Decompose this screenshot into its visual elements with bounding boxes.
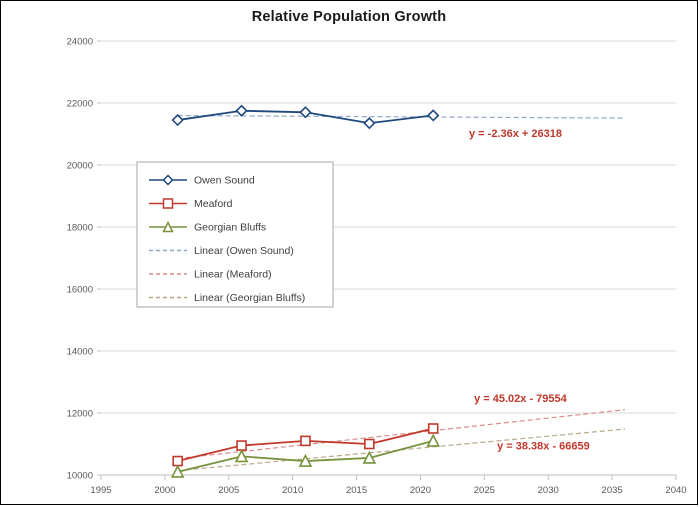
data-point-marker [428,110,438,120]
legend-entry-label: Georgian Bluffs [194,222,266,234]
legend-entry-label: Meaford [194,198,233,210]
data-point-marker [301,436,310,445]
x-axis-label: 2030 [538,485,559,496]
y-axis-label: 22000 [67,99,93,110]
y-axis-label: 16000 [67,285,93,296]
data-point-marker [173,115,183,125]
x-axis-label: 1995 [90,485,111,496]
data-point-marker [173,457,182,466]
data-point-marker [237,106,247,116]
trendline [178,116,625,119]
legend-entry-label: Owen Sound [194,175,255,187]
trendline-equation: y = -2.36x + 26318 [469,128,562,140]
chart-plot-area: 1000012000140001600018000200002200024000… [1,1,699,506]
chart-frame: Relative Population Growth 1000012000140… [0,0,698,505]
data-point-marker [365,440,374,449]
data-point-marker [428,435,439,446]
data-point-marker [429,424,438,433]
x-axis-label: 2040 [665,485,686,496]
legend-swatch-marker [164,199,173,208]
x-axis-label: 2000 [154,485,175,496]
x-axis-label: 2015 [346,485,367,496]
x-axis-label: 2020 [410,485,431,496]
x-axis-label: 2025 [474,485,495,496]
x-axis-label: 2010 [282,485,303,496]
legend-entry-label: Linear (Meaford) [194,269,272,281]
y-axis-label: 10000 [67,471,93,482]
trendline-equation: y = 38.38x - 66659 [497,441,590,453]
y-axis-label: 18000 [67,223,93,234]
trendline-equation: y = 45.02x - 79554 [474,393,568,405]
x-axis-label: 2035 [602,485,623,496]
y-axis-label: 20000 [67,161,93,172]
x-axis-label: 2005 [218,485,239,496]
y-axis-label: 12000 [67,409,93,420]
legend-entry-label: Linear (Owen Sound) [194,245,294,257]
legend-entry-label: Linear (Georgian Bluffs) [194,292,305,304]
y-axis-label: 14000 [67,347,93,358]
y-axis-label: 24000 [67,37,93,48]
data-point-marker [237,441,246,450]
data-point-marker [364,118,374,128]
